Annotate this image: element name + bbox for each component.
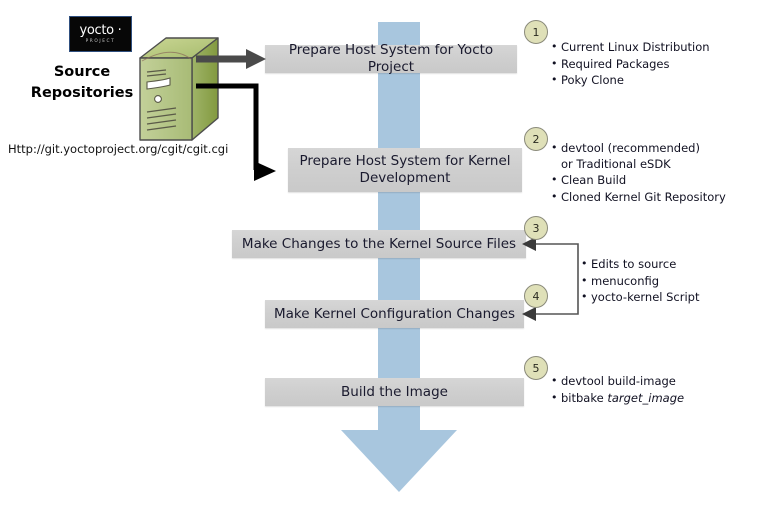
- source-label-line1: Source: [22, 62, 142, 83]
- source-label-line2: Repositories: [22, 83, 142, 104]
- flow-arrow-shaft: [378, 22, 420, 432]
- step-number-3: 3: [524, 216, 548, 240]
- list-item: devtool (recommended) or Traditional eSD…: [551, 141, 711, 172]
- server-to-steps-connectors: [196, 42, 306, 182]
- logo-subtext: PROJECT: [86, 38, 116, 45]
- list-item: Current Linux Distribution: [551, 40, 710, 56]
- feedback-loop-connector: [520, 236, 590, 322]
- list-item: menuconfig: [581, 274, 700, 290]
- list-item: Poky Clone: [551, 73, 710, 89]
- list-item: yocto-kernel Script: [581, 290, 700, 306]
- list-item: Required Packages: [551, 57, 710, 73]
- step-box-5-label: Build the Image: [341, 384, 448, 401]
- yocto-project-logo: yocto · PROJECT: [69, 16, 132, 52]
- step-box-3-label: Make Changes to the Kernel Source Files: [242, 236, 516, 253]
- flow-arrow-head: [341, 430, 457, 492]
- step-1-notes: Current Linux Distribution Required Pack…: [551, 40, 710, 90]
- step-box-4-label: Make Kernel Configuration Changes: [274, 306, 515, 323]
- step-number-2: 2: [524, 127, 548, 151]
- step-number-1: 1: [524, 20, 548, 44]
- step-box-5[interactable]: Build the Image: [265, 378, 524, 406]
- step-2-notes: devtool (recommended) or Traditional eSD…: [551, 141, 726, 206]
- step-number-4: 4: [524, 284, 548, 308]
- step-number-5: 5: [524, 356, 548, 380]
- list-item: Cloned Kernel Git Repository: [551, 190, 726, 206]
- diagram-canvas: yocto · PROJECT Source Repositories: [0, 0, 769, 517]
- step-box-4[interactable]: Make Kernel Configuration Changes: [265, 300, 524, 328]
- list-item: Edits to source: [581, 257, 700, 273]
- list-item: Clean Build: [551, 173, 726, 189]
- list-item: bitbake target_image: [551, 391, 684, 407]
- bitbake-command: bitbake: [561, 391, 607, 405]
- bitbake-target-argument: target_image: [607, 391, 684, 405]
- logo-wordmark: yocto ·: [79, 24, 121, 37]
- step-5-notes: devtool build-image bitbake target_image: [551, 374, 684, 407]
- step-box-3[interactable]: Make Changes to the Kernel Source Files: [232, 230, 526, 258]
- steps-3-4-notes: Edits to source menuconfig yocto-kernel …: [581, 257, 700, 307]
- step-box-2-label: Prepare Host System for Kernel Developme…: [288, 153, 522, 187]
- source-repositories-label: Source Repositories: [22, 62, 142, 104]
- list-item: devtool build-image: [551, 374, 684, 390]
- step-box-2[interactable]: Prepare Host System for Kernel Developme…: [288, 148, 522, 192]
